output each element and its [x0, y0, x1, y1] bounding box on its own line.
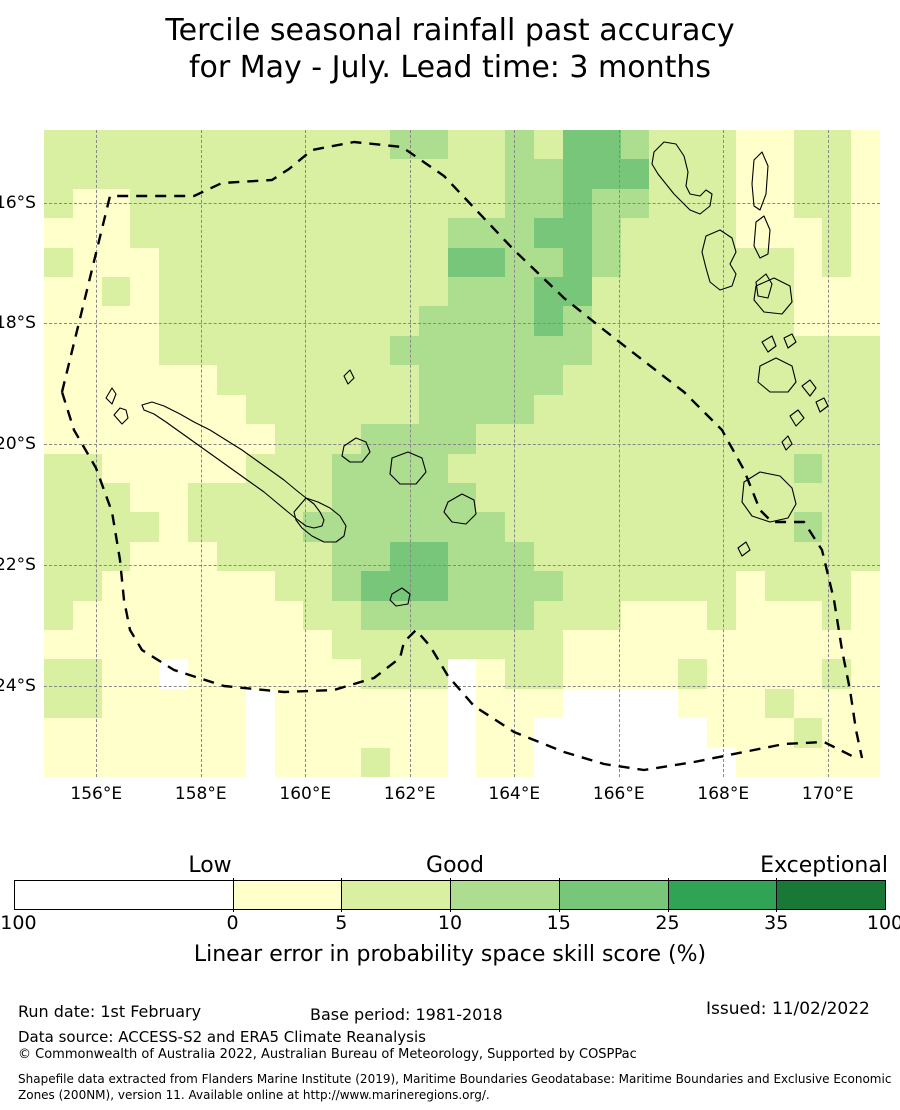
- colorbar-tickmark: [450, 878, 451, 912]
- y-axis-tick-label: 24°S: [0, 676, 36, 696]
- coastline-vanuatu-southern-islands: [742, 334, 828, 522]
- colorbar-tick-label: 15: [547, 912, 571, 934]
- coastline-loyalty-islands: [342, 438, 476, 606]
- colorbar-tickmark: [776, 878, 777, 912]
- y-axis-tick-label: 16°S: [0, 193, 36, 213]
- x-axis-tick-label: 170°E: [802, 784, 854, 804]
- shapefile-credit-line-2: Zones (200NM), version 11. Available onl…: [18, 1088, 490, 1102]
- colorbar-qualitative-labels: LowGoodExceptional: [0, 853, 900, 879]
- data-source-text: Data source: ACCESS-S2 and ERA5 Climate …: [18, 1028, 426, 1046]
- colorbar-tick-label: 10: [438, 912, 462, 934]
- coastline-vanuatu-malekula: [702, 230, 736, 290]
- colorbar-segment: [15, 881, 233, 909]
- copyright-text: © Commonwealth of Australia 2022, Austra…: [18, 1047, 637, 1062]
- x-axis-tick-label: 160°E: [279, 784, 331, 804]
- colorbar-segment: [668, 881, 777, 909]
- y-axis-tick-label: 20°S: [0, 434, 36, 454]
- shapefile-credit-line-1: Shapefile data extracted from Flanders M…: [18, 1072, 891, 1086]
- colorbar-tick-label: 25: [655, 912, 679, 934]
- x-axis-tick-label: 158°E: [175, 784, 227, 804]
- colorbar-tick-label: -100: [0, 912, 37, 934]
- colorbar-qualitative-label: Good: [426, 853, 484, 878]
- x-axis-tick-label: 162°E: [384, 784, 436, 804]
- y-axis-tick-label: 18°S: [0, 313, 36, 333]
- coastline-vanuatu-espiritu-santo: [652, 142, 712, 214]
- colorbar-tick-label: 35: [764, 912, 788, 934]
- map-vector-overlay: [44, 130, 880, 777]
- colorbar-segment: [450, 881, 559, 909]
- colorbar-qualitative-label: Low: [188, 853, 231, 878]
- colorbar-tick-labels: -1000510152535100: [0, 912, 900, 936]
- colorbar-tickmark: [559, 878, 560, 912]
- x-axis-tick-label: 164°E: [488, 784, 540, 804]
- colorbar-tick-label: 100: [867, 912, 900, 934]
- page-title: Tercile seasonal rainfall past accuracy …: [0, 12, 900, 86]
- base-period-text: Base period: 1981-2018: [310, 1005, 503, 1024]
- colorbar-segment: [776, 881, 885, 909]
- coastline-belep-islands: [106, 388, 128, 424]
- x-axis-tick-label: 168°E: [697, 784, 749, 804]
- colorbar-tickmark: [233, 878, 234, 912]
- colorbar-axis-title: Linear error in probability space skill …: [0, 942, 900, 967]
- colorbar-qualitative-label: Exceptional: [760, 853, 888, 878]
- run-date-text: Run date: 1st February: [18, 1002, 201, 1021]
- coastline-vanuatu-banks-islands: [752, 152, 772, 298]
- colorbar-tickmark: [341, 878, 342, 912]
- coastline-new-caledonia-south: [294, 498, 346, 542]
- eez-boundary-path: [62, 142, 862, 770]
- coastline-misc-reefs: [344, 370, 750, 556]
- y-axis-tick-label: 22°S: [0, 555, 36, 575]
- x-axis-tick-label: 166°E: [593, 784, 645, 804]
- issued-date-text: Issued: 11/02/2022: [706, 999, 870, 1019]
- colorbar-tick-label: 0: [226, 912, 238, 934]
- x-axis-tick-label: 156°E: [70, 784, 122, 804]
- map-panel[interactable]: [44, 130, 880, 777]
- colorbar-segment: [233, 881, 342, 909]
- colorbar-segment: [341, 881, 450, 909]
- colorbar-tick-label: 5: [335, 912, 347, 934]
- colorbar-segment: [559, 881, 668, 909]
- colorbar-tickmark: [668, 878, 669, 912]
